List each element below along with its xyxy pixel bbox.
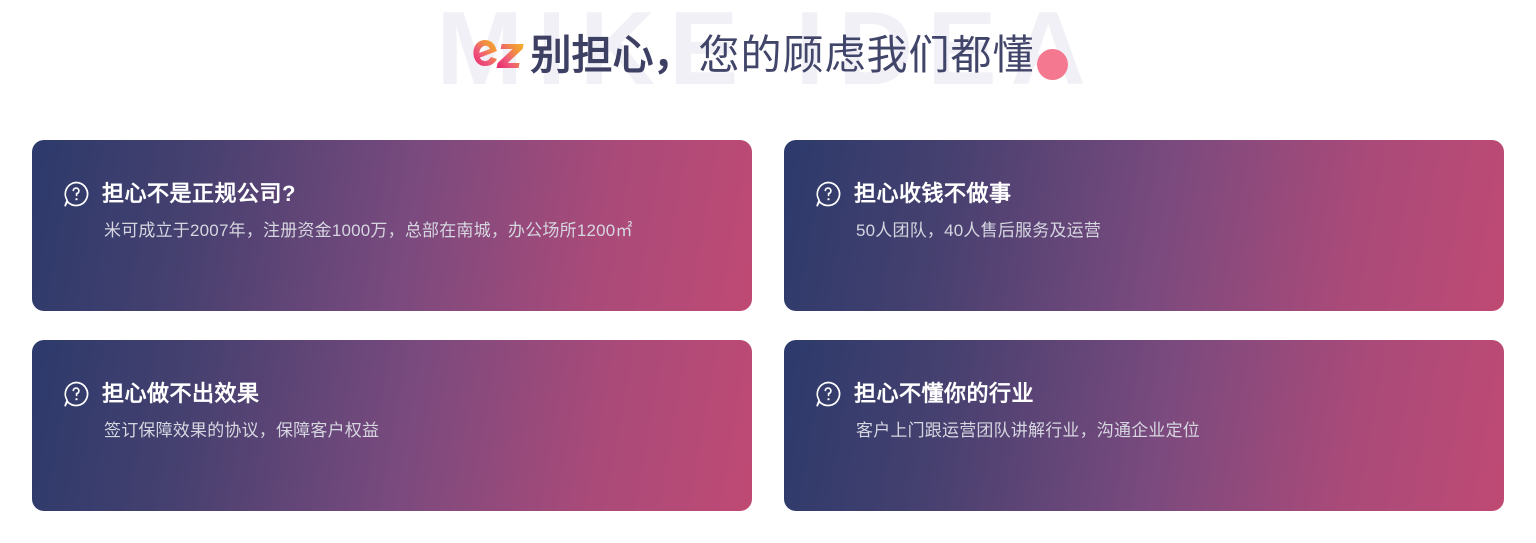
question-bubble-icon xyxy=(814,180,842,208)
concern-card[interactable]: 担心收钱不做事 50人团队，40人售后服务及运营 xyxy=(784,140,1504,311)
concern-card[interactable]: 担心不懂你的行业 客户上门跟运营团队讲解行业，沟通企业定位 xyxy=(784,340,1504,511)
concern-card[interactable]: 担心不是正规公司? 米可成立于2007年，注册资金1000万，总部在南城，办公场… xyxy=(32,140,752,311)
card-header: 担心收钱不做事 xyxy=(814,180,1464,208)
page-header: MIKE IDEA 别担心， 您的顾虑我们都懂 xyxy=(0,0,1536,110)
card-header: 担心不懂你的行业 xyxy=(814,380,1464,408)
question-bubble-icon xyxy=(62,180,90,208)
concerns-card-grid: 担心不是正规公司? 米可成立于2007年，注册资金1000万，总部在南城，办公场… xyxy=(32,140,1504,511)
card-description: 签订保障效果的协议，保障客户权益 xyxy=(62,416,687,446)
card-title: 担心不懂你的行业 xyxy=(854,381,1034,407)
accent-dot-icon xyxy=(1037,49,1068,80)
ez-logo-icon xyxy=(469,33,525,77)
card-description: 客户上门跟运营团队讲解行业，沟通企业定位 xyxy=(814,416,1439,446)
question-bubble-icon xyxy=(62,380,90,408)
card-header: 担心不是正规公司? xyxy=(62,180,712,208)
card-title: 担心不是正规公司? xyxy=(102,181,296,207)
card-description: 50人团队，40人售后服务及运营 xyxy=(814,216,1439,246)
concern-card[interactable]: 担心做不出效果 签订保障效果的协议，保障客户权益 xyxy=(32,340,752,511)
page-title-strong: 别担心， xyxy=(531,35,695,76)
page-title-light: 您的顾虑我们都懂 xyxy=(699,35,1035,76)
card-title: 担心做不出效果 xyxy=(102,381,260,407)
card-description: 米可成立于2007年，注册资金1000万，总部在南城，办公场所1200㎡ xyxy=(62,216,687,246)
card-header: 担心做不出效果 xyxy=(62,380,712,408)
card-title: 担心收钱不做事 xyxy=(854,181,1012,207)
question-bubble-icon xyxy=(814,380,842,408)
page-title: 别担心， 您的顾虑我们都懂 xyxy=(0,0,1536,110)
